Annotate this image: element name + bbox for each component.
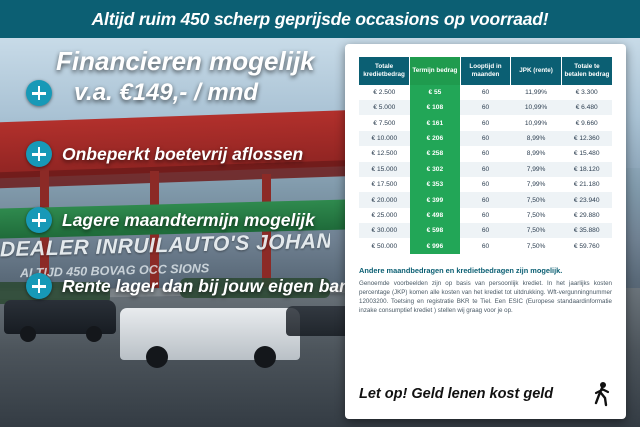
table-header-row: Totale kredietbedrag Termijn bedrag Loop… [359,57,612,85]
table-cell-termijn: € 598 [410,223,461,238]
plus-icon [26,80,52,106]
promo-bullet-label: Lagere maandtermijn mogelijk [62,210,315,231]
table-cell: € 17.500 [359,177,410,192]
table-cell: 60 [460,131,511,146]
warning-text: Let op! Geld lenen kost geld [359,386,553,402]
promo-bullet-2: Lagere maandtermijn mogelijk [26,207,336,233]
car-wheel [86,326,102,342]
table-cell: € 20.000 [359,192,410,207]
table-cell: € 12.500 [359,146,410,161]
table-cell: 60 [460,85,511,100]
table-cell: € 59.760 [561,238,612,253]
table-cell: € 23.940 [561,192,612,207]
table-cell: 60 [460,115,511,130]
table-cell: 7,50% [511,238,562,253]
disclaimer-title: Andere maandbedragen en kredietbedragen … [359,266,612,276]
table-cell: € 7.500 [359,115,410,130]
table-row: € 50.000€ 996607,50%€ 59.760 [359,238,612,253]
disclaimer-body: Genoemde voorbeelden zijn op basis van p… [359,280,612,316]
promo-bullet-label: Onbeperkt boetevrij aflossen [62,144,303,165]
table-cell: 60 [460,100,511,115]
table-cell: € 2.500 [359,85,410,100]
table-cell: € 35.880 [561,223,612,238]
table-row: € 5.000€ 1086010,99%€ 6.480 [359,100,612,115]
table-cell-termijn: € 161 [410,115,461,130]
promo-column: Financieren mogelijk v.a. €149,- / mnd O… [26,46,336,299]
table-row: € 7.500€ 1616010,99%€ 9.660 [359,115,612,130]
table-cell: 60 [460,238,511,253]
table-cell: € 29.880 [561,208,612,223]
table-cell-termijn: € 996 [410,238,461,253]
promo-bullet-1: Onbeperkt boetevrij aflossen [26,141,336,167]
promo-bullet-label: Rente lager dan bij jouw eigen bank [62,276,360,297]
rates-table: Totale kredietbedrag Termijn bedrag Loop… [359,57,612,254]
warning-row: Let op! Geld lenen kost geld [359,381,612,407]
table-cell-termijn: € 55 [410,85,461,100]
table-row: € 20.000€ 399607,50%€ 23.940 [359,192,612,207]
banner-text: Altijd ruim 450 scherp geprijsde occasio… [92,9,549,30]
table-cell: € 6.480 [561,100,612,115]
table-cell-termijn: € 258 [410,146,461,161]
promo-headline: Financieren mogelijk [56,46,336,77]
table-header-cell: Totale kredietbedrag [359,57,410,85]
table-cell-termijn: € 108 [410,100,461,115]
table-row: € 10.000€ 206608,99%€ 12.360 [359,131,612,146]
table-row: € 15.000€ 302607,99%€ 18.120 [359,162,612,177]
rates-card: Totale kredietbedrag Termijn bedrag Loop… [345,44,626,419]
table-cell: 8,99% [511,146,562,161]
car-wheel [20,326,36,342]
table-cell-termijn: € 399 [410,192,461,207]
car-wheel [254,346,276,368]
table-cell: € 18.120 [561,162,612,177]
table-row: € 25.000€ 498607,50%€ 29.880 [359,208,612,223]
table-header-cell: Looptijd in maanden [460,57,511,85]
table-cell: 7,99% [511,162,562,177]
table-cell: 7,50% [511,208,562,223]
walking-person-icon [590,381,612,407]
table-cell: 60 [460,146,511,161]
table-cell: € 9.660 [561,115,612,130]
table-row: € 30.000€ 598607,50%€ 35.880 [359,223,612,238]
table-cell: € 3.300 [561,85,612,100]
table-cell: 60 [460,223,511,238]
table-cell: € 15.480 [561,146,612,161]
table-cell: € 25.000 [359,208,410,223]
table-cell-termijn: € 302 [410,162,461,177]
table-header-cell: JPK (rente) [511,57,562,85]
table-header-cell: Totale te betalen bedrag [561,57,612,85]
table-cell: € 21.180 [561,177,612,192]
table-cell: € 5.000 [359,100,410,115]
table-row: € 17.500€ 353607,99%€ 21.180 [359,177,612,192]
table-cell-termijn: € 498 [410,208,461,223]
table-cell: 60 [460,177,511,192]
table-cell: € 50.000 [359,238,410,253]
table-cell: 8,99% [511,131,562,146]
table-cell: € 10.000 [359,131,410,146]
table-cell: 60 [460,192,511,207]
plus-icon [26,207,52,233]
promo-subheadline: v.a. €149,- / mnd [74,79,336,107]
table-cell: 10,99% [511,100,562,115]
table-cell: € 15.000 [359,162,410,177]
table-cell: € 30.000 [359,223,410,238]
table-cell: 10,99% [511,115,562,130]
table-cell: 60 [460,162,511,177]
table-header-cell-highlight: Termijn bedrag [410,57,461,85]
table-cell: 7,50% [511,223,562,238]
table-cell-termijn: € 353 [410,177,461,192]
plus-icon [26,273,52,299]
table-row: € 12.500€ 258608,99%€ 15.480 [359,146,612,161]
promo-bullet-3: Rente lager dan bij jouw eigen bank [26,273,336,299]
top-banner: Altijd ruim 450 scherp geprijsde occasio… [0,0,640,38]
table-cell-termijn: € 206 [410,131,461,146]
table-cell: 7,50% [511,192,562,207]
table-row: € 2.500€ 556011,99%€ 3.300 [359,85,612,100]
table-cell: € 12.360 [561,131,612,146]
car-wheel [146,346,168,368]
table-cell: 11,99% [511,85,562,100]
table-cell: 60 [460,208,511,223]
table-cell: 7,99% [511,177,562,192]
table-body: € 2.500€ 556011,99%€ 3.300€ 5.000€ 10860… [359,85,612,254]
plus-icon [26,141,52,167]
